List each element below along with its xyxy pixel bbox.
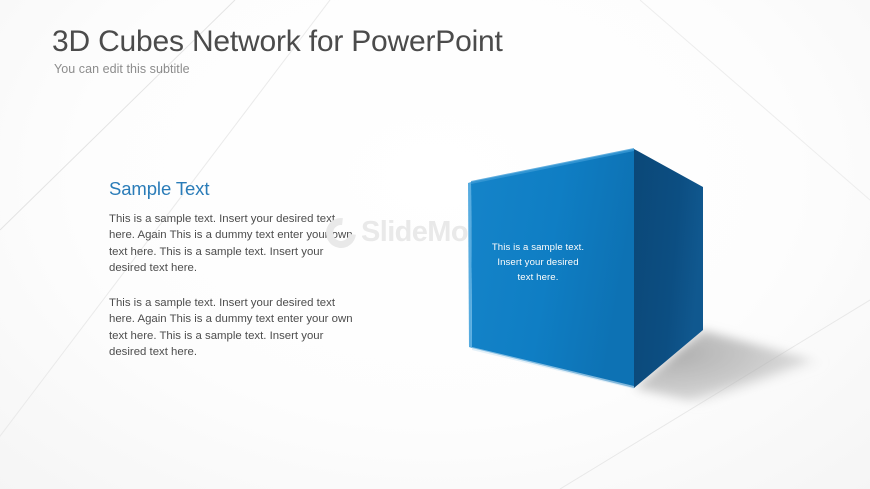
cube-label-line-2: Insert your desired [474, 256, 602, 271]
cube-shadow [634, 330, 824, 404]
cube-bottom-edge-highlight [472, 347, 634, 389]
page-subtitle: You can edit this subtitle [54, 62, 812, 76]
cube-label: This is a sample text. Insert your desir… [474, 241, 602, 286]
cube-left-edge-highlight [468, 182, 472, 348]
text-column-heading: Sample Text [109, 178, 355, 200]
cube-side-face [634, 149, 703, 388]
slide-canvas: 3D Cubes Network for PowerPoint You can … [0, 0, 870, 489]
cube-label-line-3: text here. [474, 271, 602, 286]
cube-top-edge-highlight [471, 148, 634, 184]
text-column-paragraph-2: This is a sample text. Insert your desir… [109, 295, 355, 360]
cube-label-line-1: This is a sample text. [474, 241, 602, 256]
page-title: 3D Cubes Network for PowerPoint [52, 26, 812, 58]
slide-header: 3D Cubes Network for PowerPoint You can … [52, 26, 812, 76]
text-column-paragraph-1: This is a sample text. Insert your desir… [109, 211, 355, 276]
text-column: Sample Text This is a sample text. Inser… [109, 178, 355, 360]
